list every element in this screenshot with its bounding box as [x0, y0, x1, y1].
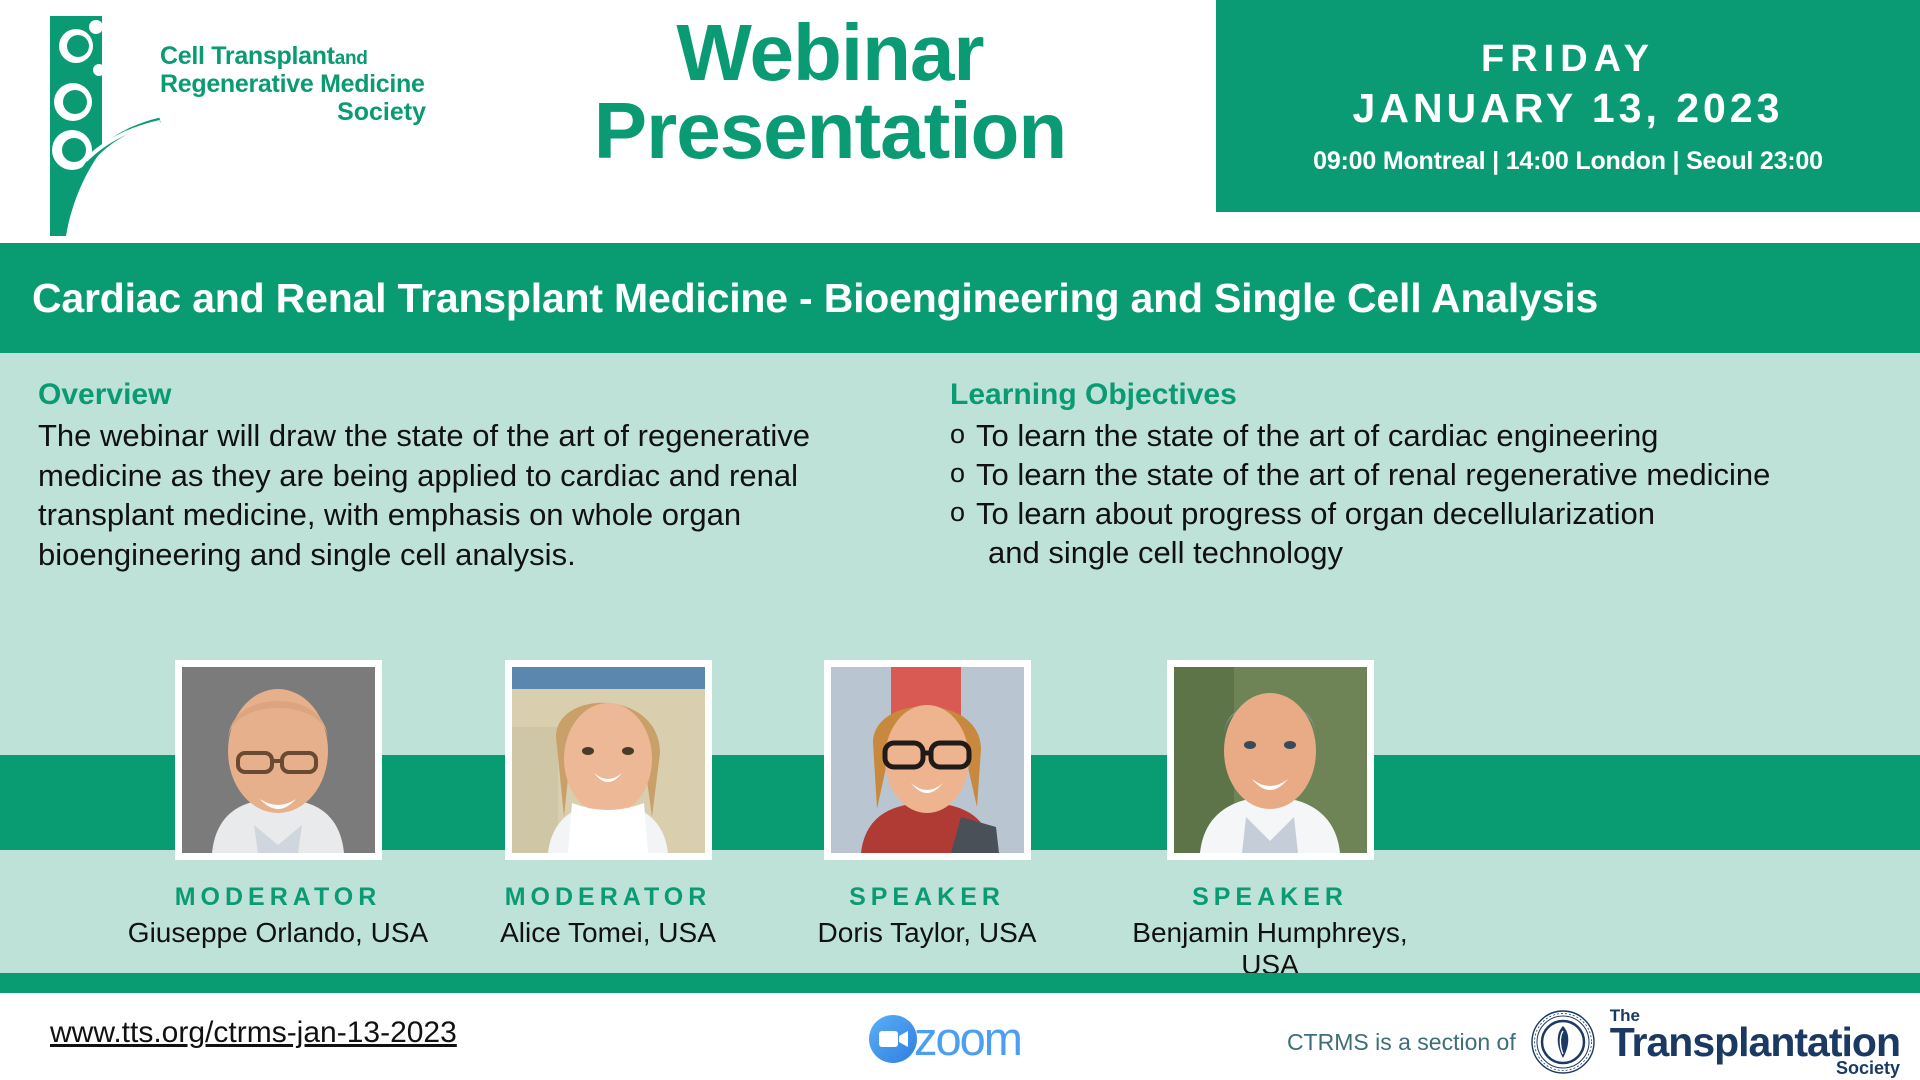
objective-text: To learn about progress of organ decellu… — [976, 494, 1900, 533]
avatar — [512, 667, 705, 853]
avatar-frame — [505, 660, 712, 860]
overview-section: Overview The webinar will draw the state… — [38, 378, 938, 575]
person-name: Doris Taylor, USA — [762, 917, 1092, 949]
objective-item: o To learn the state of the art of cardi… — [950, 416, 1900, 455]
avatar-frame — [1167, 660, 1374, 860]
person-name: Giuseppe Orlando, USA — [113, 917, 443, 949]
person-role: MODERATOR — [443, 883, 773, 912]
person-card: MODERATOR Alice Tomei, USA — [443, 660, 773, 949]
person-card: SPEAKER Benjamin Humphreys, USA — [1105, 660, 1435, 981]
logo-line-3: Society — [160, 98, 470, 126]
avatar — [182, 667, 375, 853]
header: Cell Transplantand Regenerative Medicine… — [0, 0, 1920, 243]
tts-seal-icon — [1530, 1009, 1596, 1075]
session-title: Cardiac and Renal Transplant Medicine - … — [0, 275, 1598, 322]
person-role: MODERATOR — [113, 883, 443, 912]
avatar-frame — [175, 660, 382, 860]
objective-text: To learn the state of the art of cardiac… — [976, 416, 1900, 455]
zoom-logo: zoom — [868, 1011, 1021, 1066]
ctrms-cell-logo-icon — [42, 10, 162, 238]
person-name: Benjamin Humphreys, USA — [1105, 917, 1435, 981]
circle-bullet-icon: o — [950, 416, 976, 453]
avatar — [1174, 667, 1367, 853]
date-panel: FRIDAY JANUARY 13, 2023 09:00 Montreal |… — [1216, 0, 1920, 212]
session-title-banner: Cardiac and Renal Transplant Medicine - … — [0, 243, 1920, 353]
overview-text: The webinar will draw the state of the a… — [38, 416, 938, 575]
webinar-url-link[interactable]: www.tts.org/ctrms-jan-13-2023 — [50, 1016, 457, 1050]
tts-main: Transplantation — [1610, 1022, 1900, 1063]
zoom-camera-icon — [868, 1014, 918, 1064]
ctrms-logo-text: Cell Transplantand Regenerative Medicine… — [160, 42, 470, 126]
date-timezones: 09:00 Montreal | 14:00 London | Seoul 23… — [1313, 147, 1823, 176]
logo-line-1-small: and — [335, 48, 368, 69]
logo-line-1: Cell Transplant — [160, 42, 335, 70]
person-name: Alice Tomei, USA — [443, 917, 773, 949]
objective-item: o To learn the state of the art of renal… — [950, 455, 1900, 494]
person-role: SPEAKER — [762, 883, 1092, 912]
webinar-title: Webinar Presentation — [470, 14, 1190, 171]
bottom-green-strip — [0, 973, 1920, 993]
person-role: SPEAKER — [1105, 883, 1435, 912]
circle-bullet-icon: o — [950, 455, 976, 492]
tts-affiliation: CTRMS is a section of The Transplantatio… — [1287, 1007, 1900, 1077]
overview-heading: Overview — [38, 378, 938, 412]
people-row: MODERATOR Giuseppe Orlando, USA M — [0, 660, 1920, 970]
avatar-frame — [824, 660, 1031, 860]
zoom-wordmark: zoom — [914, 1011, 1021, 1066]
objective-item: o To learn about progress of organ decel… — [950, 494, 1900, 533]
logo-line-2: Regenerative Medicine — [160, 70, 470, 98]
ctrms-logo: Cell Transplantand Regenerative Medicine… — [42, 6, 462, 238]
person-card: MODERATOR Giuseppe Orlando, USA — [113, 660, 443, 949]
person-card: SPEAKER Doris Taylor, USA — [762, 660, 1092, 949]
date-day: FRIDAY — [1481, 36, 1655, 82]
circle-bullet-icon: o — [950, 494, 976, 531]
tts-caption: CTRMS is a section of — [1287, 1029, 1516, 1056]
objectives-section: Learning Objectives o To learn the state… — [950, 378, 1900, 572]
avatar — [831, 667, 1024, 853]
footer: www.tts.org/ctrms-jan-13-2023 zoom CTRMS… — [0, 993, 1920, 1080]
date-full: JANUARY 13, 2023 — [1353, 83, 1784, 133]
objectives-list: o To learn the state of the art of cardi… — [950, 416, 1900, 572]
tts-wordmark: The Transplantation Society — [1610, 1007, 1900, 1077]
objective-text: To learn the state of the art of renal r… — [976, 455, 1900, 494]
objective-continuation: and single cell technology — [950, 533, 1900, 572]
objectives-heading: Learning Objectives — [950, 378, 1900, 412]
